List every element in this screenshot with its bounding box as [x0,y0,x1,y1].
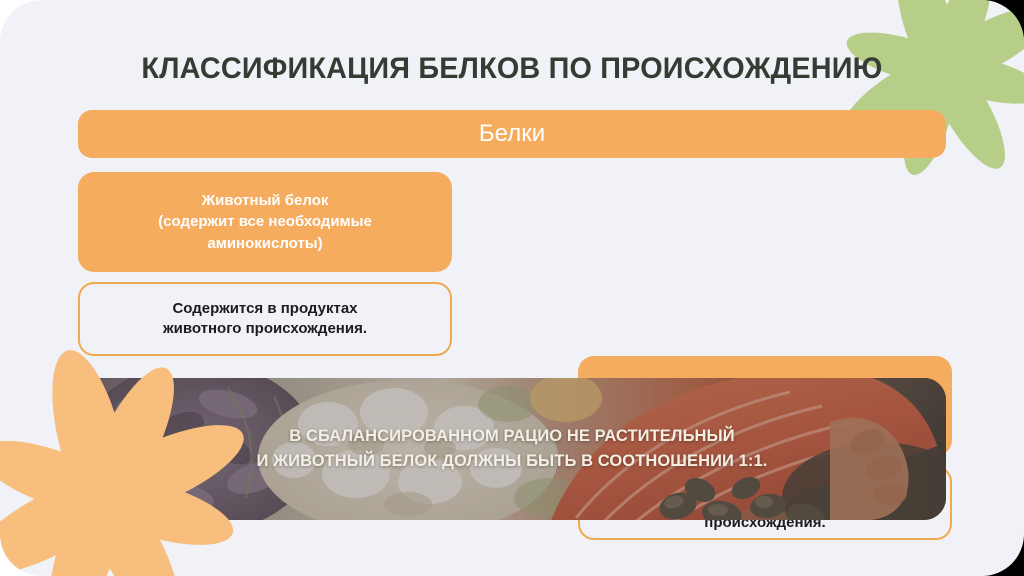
animal-protein-source-box: Содержится в продуктах животного происхо… [78,282,452,356]
page-title: КЛАССИФИКАЦИЯ БЕЛКОВ ПО ПРОИСХОЖДЕНИЮ [20,52,1003,86]
slide-stage: КЛАССИФИКАЦИЯ БЕЛКОВ ПО ПРОИСХОЖДЕНИЮ Бе… [0,0,1024,576]
column-animal-protein: Животный белок (содержит все необходимые… [78,172,452,356]
animal-type-line-1: Животный белок [158,190,372,211]
animal-type-line-3: аминокислоты) [158,233,372,254]
banner-caption-line-2: И ЖИВОТНЫЙ БЕЛОК ДОЛЖНЫ БЫТЬ В СООТНОШЕН… [257,449,768,474]
animal-protein-type-box: Животный белок (содержит все необходимые… [78,172,452,272]
slide-card: КЛАССИФИКАЦИЯ БЕЛКОВ ПО ПРОИСХОЖДЕНИЮ Бе… [0,0,1024,576]
protein-header-label: Белки [479,120,545,148]
protein-header-bar: Белки [78,110,946,158]
animal-source-line-2: животного происхождения. [163,319,367,339]
banner-caption: В СБАЛАНСИРОВАННОМ РАЦИО НЕ РАСТИТЕЛЬНЫЙ… [91,378,933,520]
animal-type-line-2: (содержит все необходимые [158,211,372,232]
banner-caption-line-1: В СБАЛАНСИРОВАННОМ РАЦИО НЕ РАСТИТЕЛЬНЫЙ [289,424,734,449]
food-photo-banner: В СБАЛАНСИРОВАННОМ РАЦИО НЕ РАСТИТЕЛЬНЫЙ… [78,378,946,520]
animal-source-line-1: Содержится в продуктах [163,299,367,319]
